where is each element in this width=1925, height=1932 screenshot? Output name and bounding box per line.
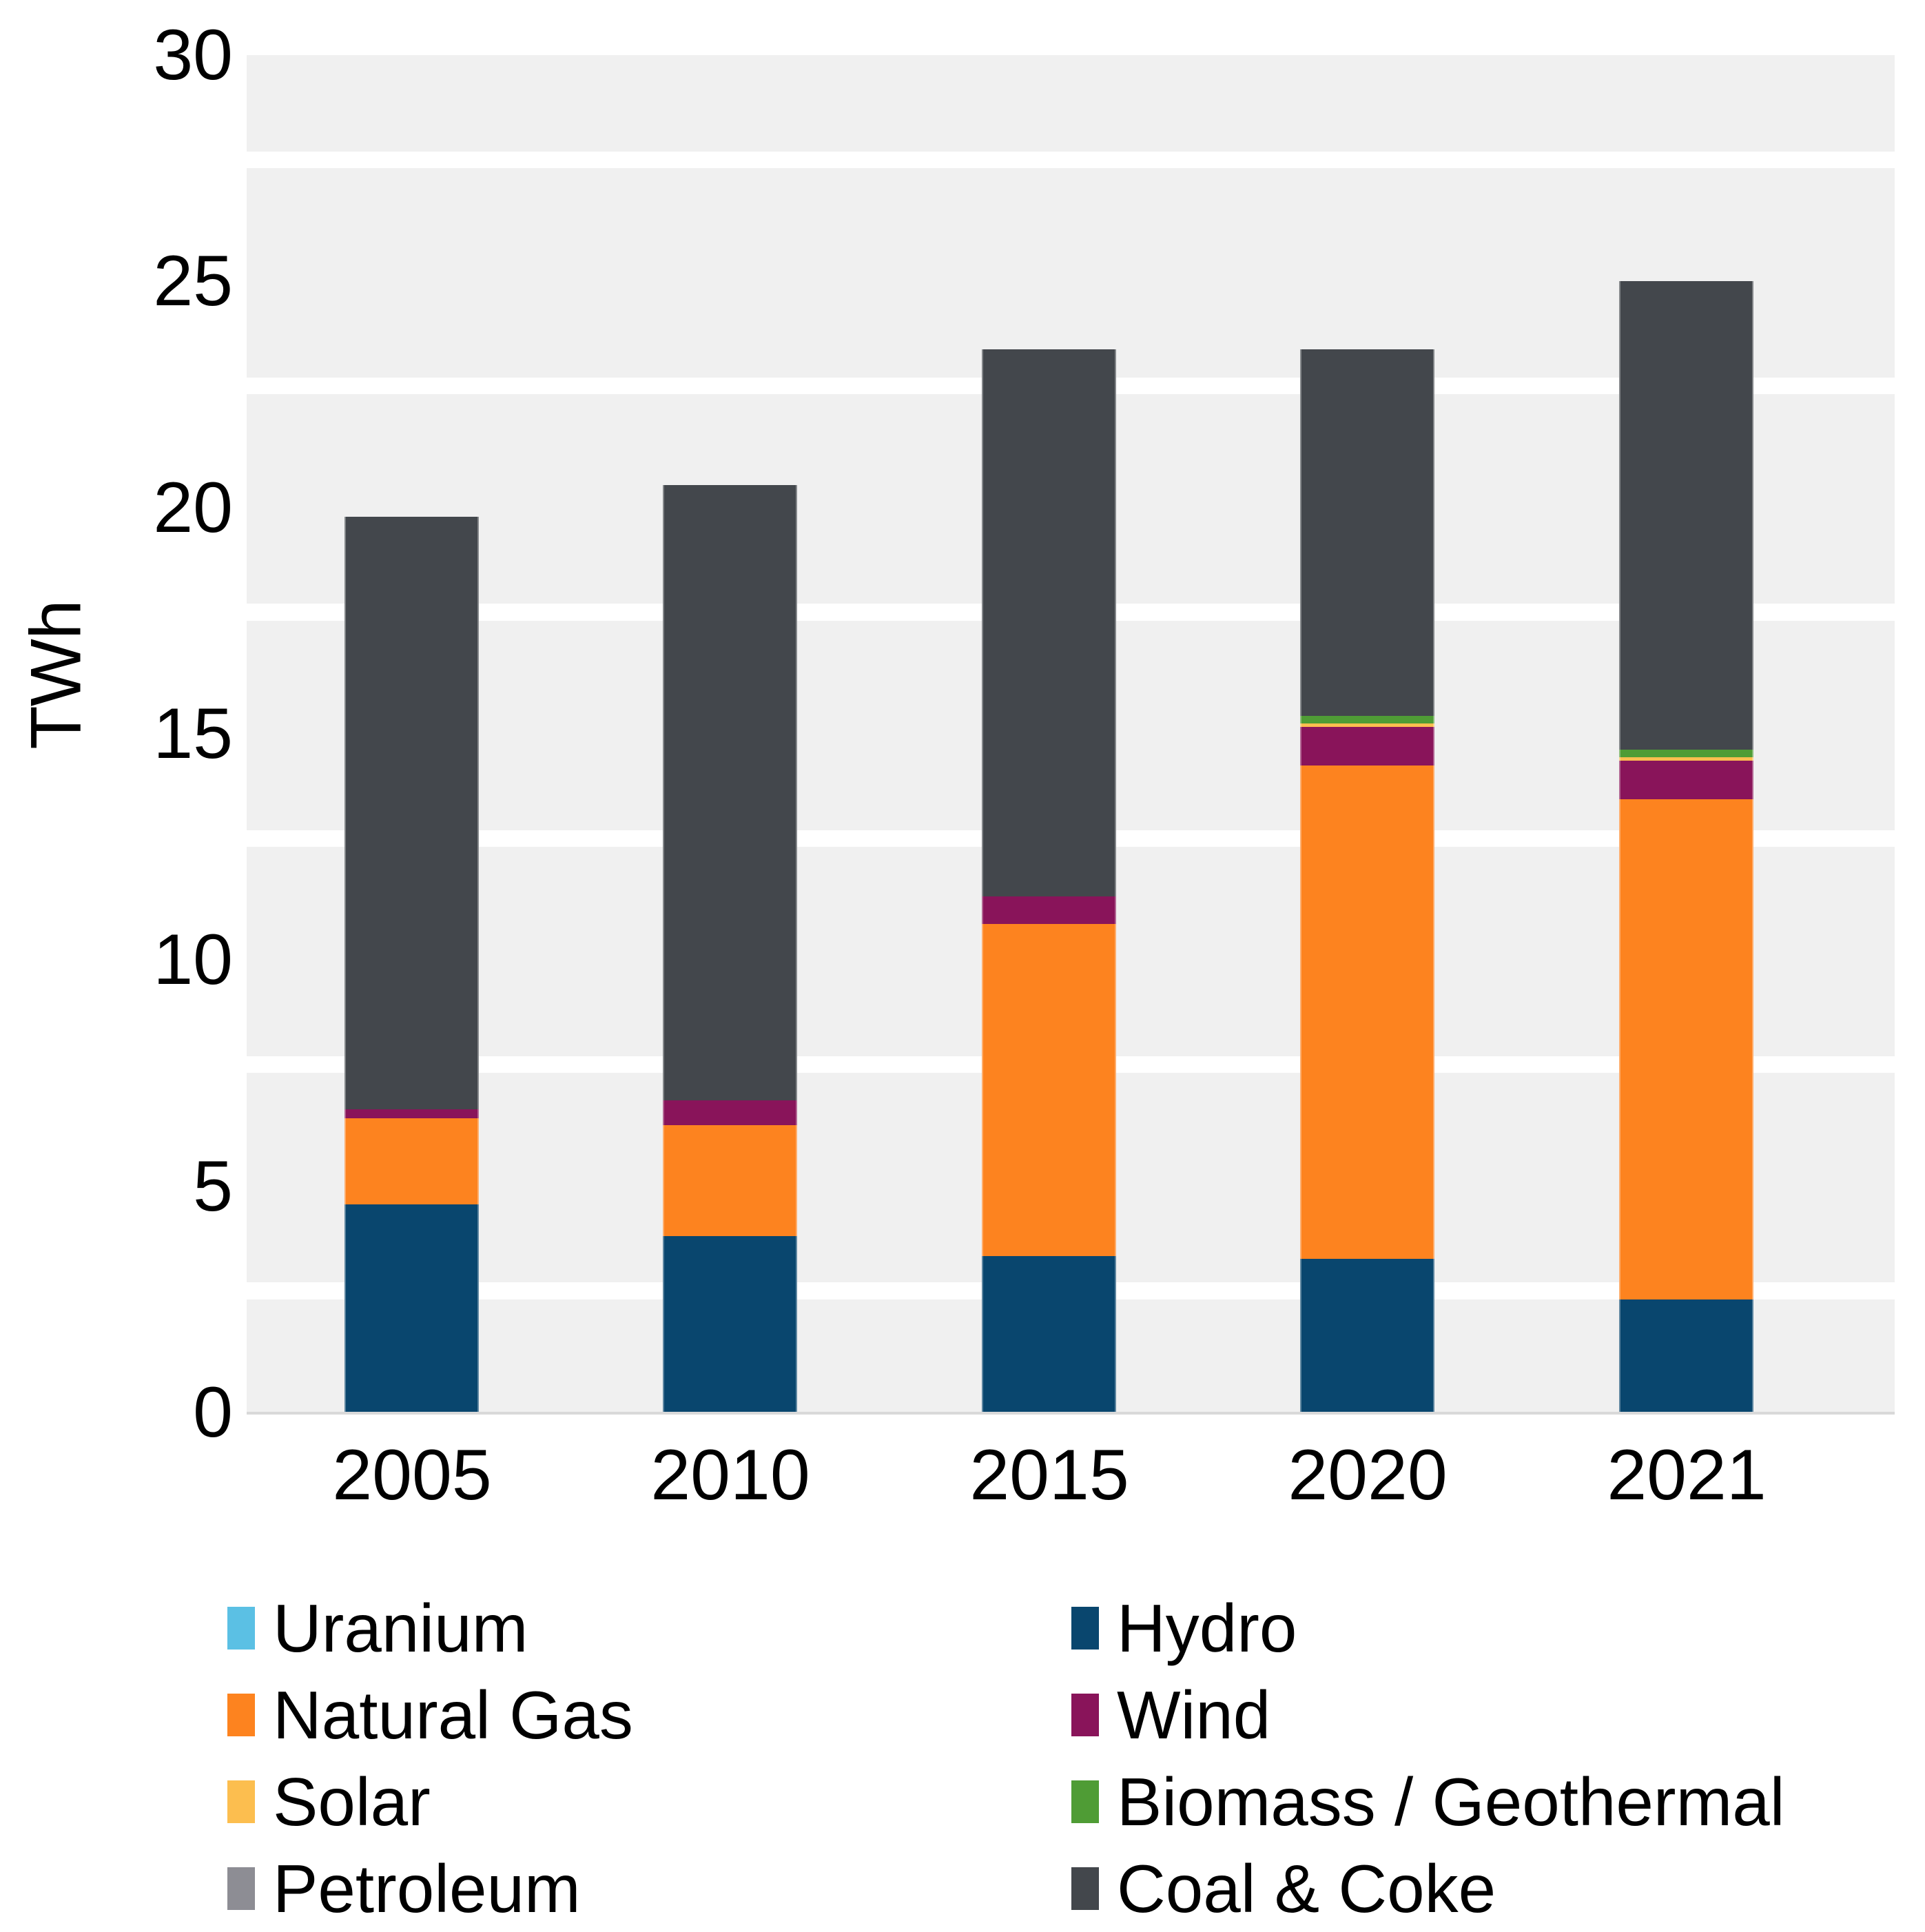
legend-swatch-solar-icon: [227, 1780, 255, 1823]
legend-item-petroleum[interactable]: Petroleum: [227, 1845, 1071, 1932]
x-tick-label-2010: 2010: [593, 1435, 868, 1517]
x-tick-label-2020: 2020: [1230, 1435, 1505, 1517]
segment-natural-gas[interactable]: [1300, 765, 1434, 1259]
segment-wind[interactable]: [1619, 761, 1753, 799]
segment-natural-gas[interactable]: [663, 1125, 797, 1236]
segment-biomass-geothermal[interactable]: [1300, 716, 1434, 723]
segment-natural-gas[interactable]: [344, 1118, 479, 1204]
stacked-bar-chart: TWh 30 25 20 15 10 5 0: [0, 0, 1925, 1912]
segment-natural-gas[interactable]: [982, 924, 1116, 1257]
y-axis-label: TWh: [16, 531, 98, 820]
legend-item-natural-gas[interactable]: Natural Gas: [227, 1672, 1071, 1758]
legend-label-coal-coke: Coal & Coke: [1117, 1855, 1496, 1922]
legend-item-uranium[interactable]: Uranium: [227, 1585, 1071, 1672]
legend-item-biomass-geothermal[interactable]: Biomass / Geothermal: [1071, 1758, 1902, 1845]
y-tick-label-5: 5: [26, 1151, 233, 1222]
legend-item-coal-coke[interactable]: Coal & Coke: [1071, 1845, 1902, 1932]
chart-legend: Uranium Hydro Natural Gas Wind Solar Bio…: [227, 1585, 1902, 1932]
legend-label-hydro: Hydro: [1117, 1594, 1297, 1662]
legend-item-solar[interactable]: Solar: [227, 1758, 1071, 1845]
legend-swatch-natural-gas-icon: [227, 1694, 255, 1736]
y-tick-label-10: 10: [26, 924, 233, 996]
segment-solar[interactable]: [1619, 757, 1753, 761]
y-tick-label-25: 25: [26, 245, 233, 317]
y-tick-label-30: 30: [26, 19, 233, 91]
segment-wind[interactable]: [344, 1109, 479, 1118]
segment-hydro[interactable]: [982, 1256, 1116, 1412]
segment-wind[interactable]: [663, 1100, 797, 1125]
segment-coal-coke[interactable]: [1300, 349, 1434, 716]
y-tick-label-20: 20: [26, 472, 233, 544]
legend-swatch-uranium-icon: [227, 1607, 255, 1650]
segment-hydro[interactable]: [1300, 1259, 1434, 1412]
segment-coal-coke[interactable]: [344, 517, 479, 1109]
grid-band: [247, 55, 1895, 152]
y-tick-label-0: 0: [26, 1377, 233, 1448]
segment-biomass-geothermal[interactable]: [1619, 750, 1753, 757]
legend-swatch-coal-coke-icon: [1071, 1867, 1099, 1910]
legend-item-hydro[interactable]: Hydro: [1071, 1585, 1902, 1672]
legend-label-biomass-geothermal: Biomass / Geothermal: [1117, 1768, 1784, 1836]
segment-coal-coke[interactable]: [663, 485, 797, 1100]
legend-label-petroleum: Petroleum: [273, 1855, 581, 1922]
segment-solar[interactable]: [1300, 723, 1434, 727]
x-axis-baseline: [247, 1412, 1895, 1415]
legend-item-wind[interactable]: Wind: [1071, 1672, 1902, 1758]
x-tick-label-2005: 2005: [274, 1435, 550, 1517]
legend-label-natural-gas: Natural Gas: [273, 1681, 633, 1749]
x-tick-label-2021: 2021: [1549, 1435, 1824, 1517]
segment-hydro[interactable]: [1619, 1299, 1753, 1412]
y-tick-label-15: 15: [26, 698, 233, 770]
segment-coal-coke[interactable]: [982, 349, 1116, 897]
segment-natural-gas[interactable]: [1619, 799, 1753, 1299]
legend-label-uranium: Uranium: [273, 1594, 528, 1662]
segment-hydro[interactable]: [663, 1236, 797, 1412]
segment-coal-coke[interactable]: [1619, 281, 1753, 750]
legend-label-solar: Solar: [273, 1768, 431, 1836]
plot-area: [247, 55, 1895, 1412]
legend-swatch-hydro-icon: [1071, 1607, 1099, 1650]
segment-wind[interactable]: [1300, 727, 1434, 765]
legend-swatch-wind-icon: [1071, 1694, 1099, 1736]
legend-swatch-biomass-geothermal-icon: [1071, 1780, 1099, 1823]
legend-swatch-petroleum-icon: [227, 1867, 255, 1910]
segment-wind[interactable]: [982, 896, 1116, 923]
legend-label-wind: Wind: [1117, 1681, 1270, 1749]
x-tick-label-2015: 2015: [912, 1435, 1187, 1517]
segment-hydro[interactable]: [344, 1204, 479, 1412]
